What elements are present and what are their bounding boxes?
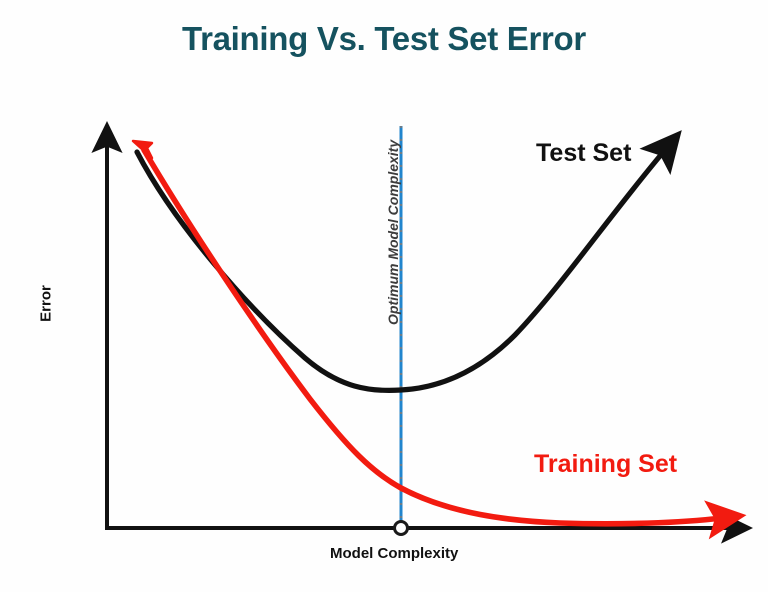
x-axis-label: Model Complexity: [330, 545, 458, 562]
legend-label-test-set: Test Set: [536, 139, 631, 168]
plot-area: [0, 0, 768, 592]
optimum-complexity-label: Optimum Model Complexity: [385, 165, 401, 325]
legend-label-training-set: Training Set: [534, 450, 677, 479]
chart-canvas: Training Vs. Test Set Error Error: [0, 0, 768, 592]
optimum-complexity-marker: [395, 522, 408, 535]
training-set-start-arrow: [133, 141, 152, 158]
y-axis-label: Error: [38, 274, 55, 334]
